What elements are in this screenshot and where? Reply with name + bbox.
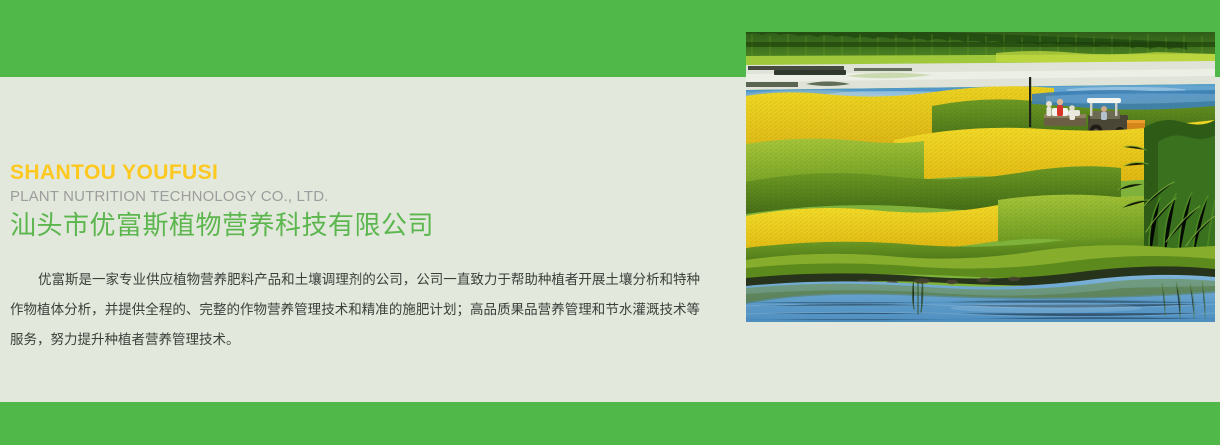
rice-paddy-photo: [746, 32, 1215, 322]
brand-name-chinese: 汕头市优富斯植物营养科技有限公司: [10, 209, 710, 243]
rice-paddy-illustration: [746, 32, 1215, 322]
brand-subtitle-english: PLANT NUTRITION TECHNOLOGY CO., LTD.: [10, 187, 710, 207]
company-intro-paragraph: 优富斯是一家专业供应植物营养肥料产品和土壤调理剂的公司，公司一直致力于帮助种植者…: [10, 265, 700, 355]
company-intro-block: SHANTOU YOUFUSI PLANT NUTRITION TECHNOLO…: [10, 160, 710, 355]
page-root: SHANTOU YOUFUSI PLANT NUTRITION TECHNOLO…: [0, 0, 1220, 445]
brand-name-english: SHANTOU YOUFUSI: [10, 160, 710, 186]
bottom-green-band: [0, 402, 1220, 445]
